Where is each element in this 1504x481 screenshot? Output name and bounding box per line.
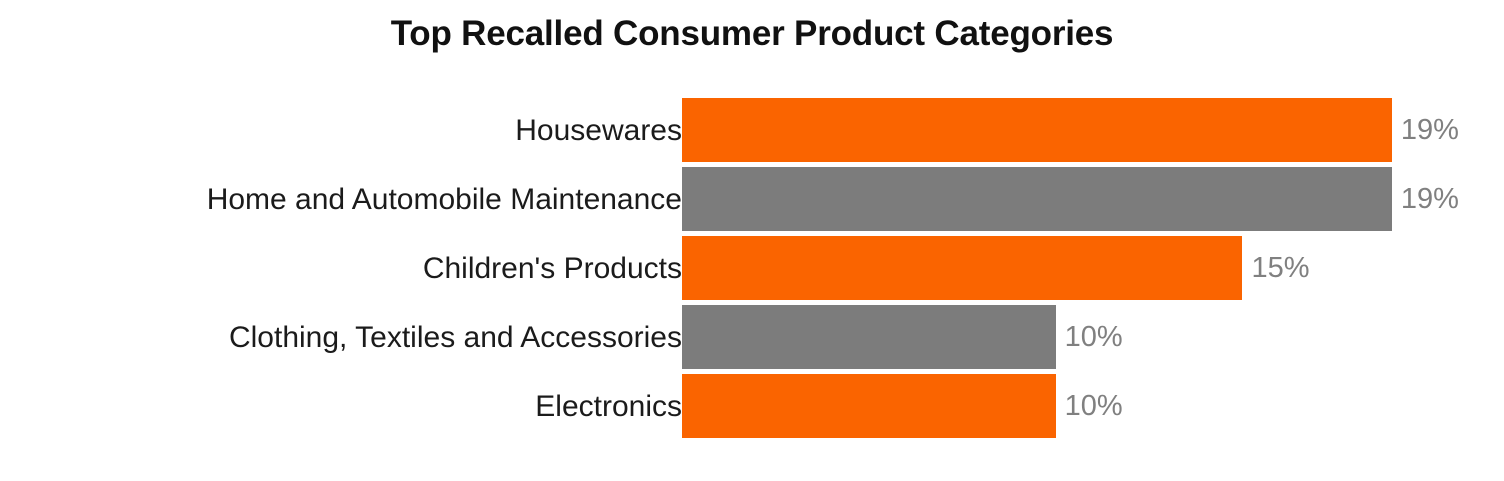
chart-row: Electronics 10% [0, 372, 1504, 441]
bar-track: 10% [682, 305, 1504, 369]
bar [682, 305, 1056, 369]
category-label-zone: Housewares [515, 96, 682, 165]
category-label-zone: Clothing, Textiles and Accessories [229, 303, 682, 372]
category-label: Electronics [535, 392, 682, 422]
category-label: Housewares [515, 116, 682, 146]
bar [682, 98, 1392, 162]
bar-rows: Housewares 19% [0, 96, 1504, 441]
bar-value-label: 15% [1251, 254, 1309, 283]
bar-track: 10% [682, 374, 1504, 438]
chart-row: Home and Automobile Maintenance 19% [0, 165, 1504, 234]
chart-row: Children's Products [0, 234, 1504, 303]
bar-track: 19% [682, 167, 1504, 231]
bar-track: 19% [682, 98, 1504, 162]
chart-row: Clothing, Textiles and Accessories 10% [0, 303, 1504, 372]
bar-value-label: 19% [1401, 116, 1459, 145]
bar [682, 374, 1056, 438]
bar-value-label: 19% [1401, 185, 1459, 214]
bar-chart: Top Recalled Consumer Product Categories… [0, 0, 1504, 481]
bar-value-label: 10% [1065, 392, 1123, 421]
category-label-zone: Children's Products [423, 234, 682, 303]
bar [682, 167, 1392, 231]
chart-title: Top Recalled Consumer Product Categories [0, 14, 1504, 54]
bar-track: 15% [682, 236, 1504, 300]
chart-row: Housewares 19% [0, 96, 1504, 165]
category-label-zone: Home and Automobile Maintenance [207, 165, 682, 234]
bar [682, 236, 1242, 300]
category-label: Children's Products [423, 254, 682, 284]
category-label: Clothing, Textiles and Accessories [229, 323, 682, 353]
category-label-zone: Electronics [535, 372, 682, 441]
bar-value-label: 10% [1065, 323, 1123, 352]
category-label: Home and Automobile Maintenance [207, 185, 682, 215]
